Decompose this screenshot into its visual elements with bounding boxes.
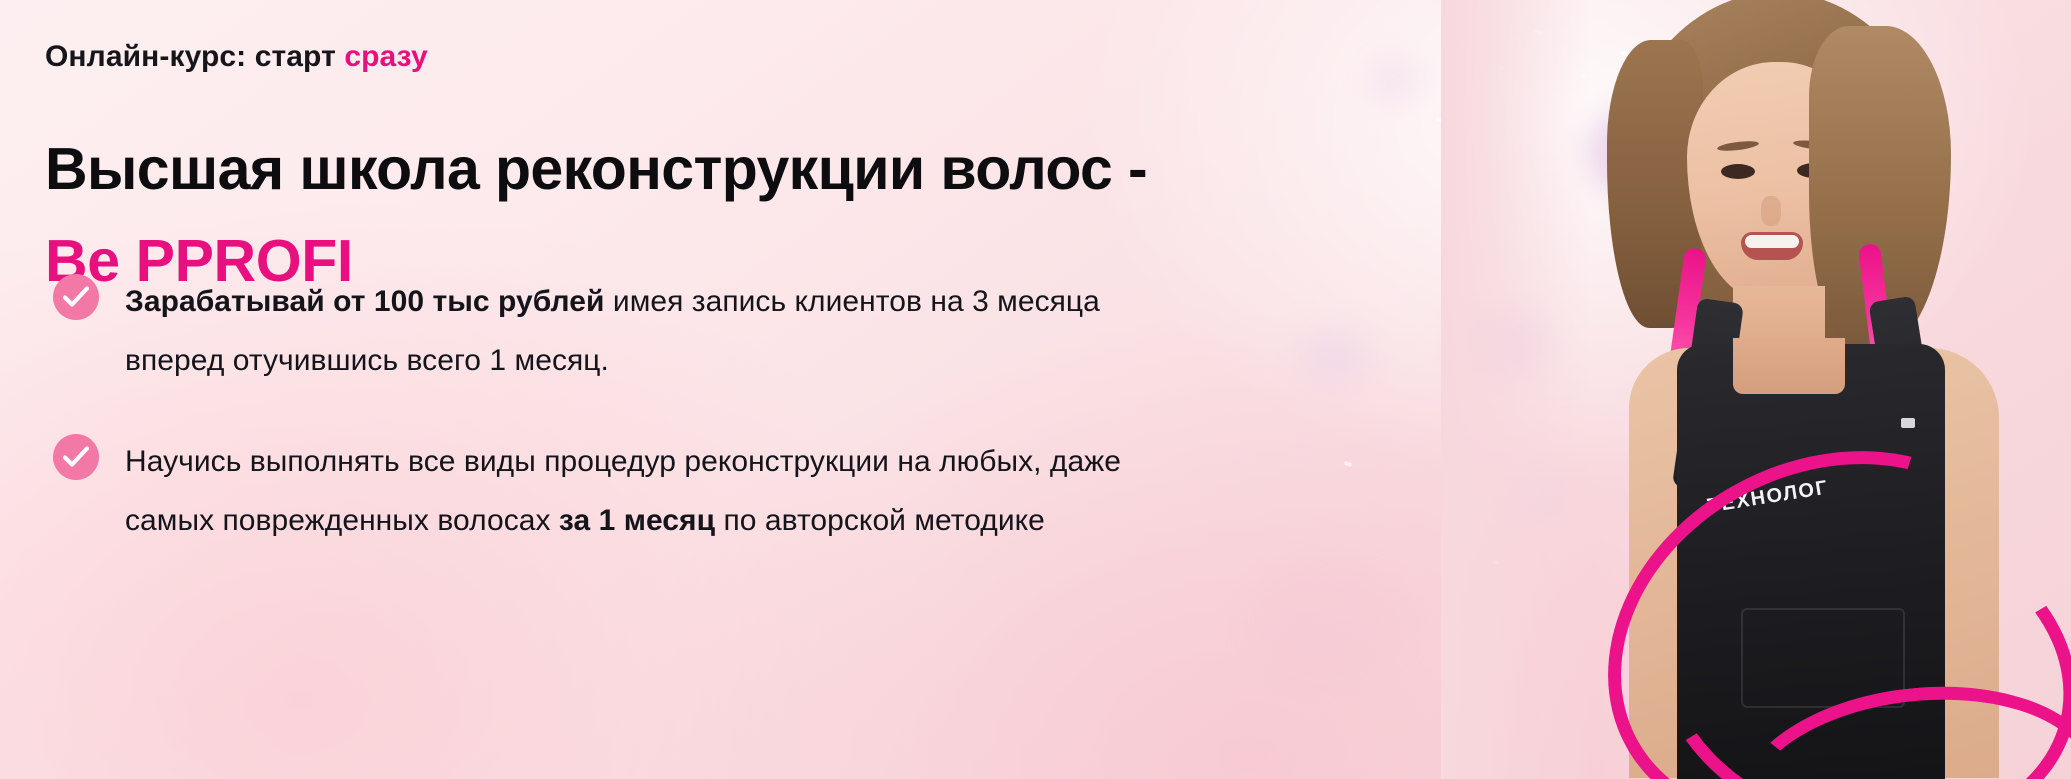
list-item-text: Научись выполнять все виды процедур реко… xyxy=(125,432,1133,550)
list-item-highlight: Зарабатывай от 100 тыс рублей xyxy=(125,285,605,318)
hero-copy: Онлайн-курс: старт сразу Высшая школа ре… xyxy=(45,0,1165,779)
decorative-blob xyxy=(1370,60,1418,100)
list-item-text: Зарабатывай от 100 тыс рублей имея запис… xyxy=(125,272,1133,390)
eyebrow-label: Онлайн-курс: старт xyxy=(45,40,344,73)
decorative-blob xyxy=(1300,330,1368,386)
list-item-body-tail: по авторской методике xyxy=(715,504,1045,537)
list-item: Научись выполнять все виды процедур реко… xyxy=(53,432,1133,550)
apron-tag xyxy=(1901,418,1915,428)
photo-edge-fade xyxy=(1441,0,1591,779)
list-item-highlight: за 1 месяц xyxy=(559,504,715,537)
benefit-list: Зарабатывай от 100 тыс рублей имея запис… xyxy=(53,272,1133,592)
decorative-speck xyxy=(1344,461,1353,467)
apron-neckline xyxy=(1733,338,1845,394)
list-item: Зарабатывай от 100 тыс рублей имея запис… xyxy=(53,272,1133,390)
eyebrow-accent: сразу xyxy=(344,40,427,73)
decorative-blob xyxy=(1252,560,1402,680)
hero-banner: Онлайн-курс: старт сразу Высшая школа ре… xyxy=(0,0,2071,779)
eyebrow-text: Онлайн-курс: старт сразу xyxy=(45,40,428,74)
headline-line-1: Высшая школа реконструкции волос - xyxy=(45,136,1147,202)
check-circle-icon xyxy=(53,434,99,480)
instructor-portrait: ТЕХНОЛОГ xyxy=(1441,0,2071,779)
check-circle-icon xyxy=(53,274,99,320)
eye-shape xyxy=(1721,164,1755,179)
mouth-shape xyxy=(1741,232,1803,260)
nose-shape xyxy=(1761,196,1781,226)
teeth-shape xyxy=(1745,235,1799,248)
